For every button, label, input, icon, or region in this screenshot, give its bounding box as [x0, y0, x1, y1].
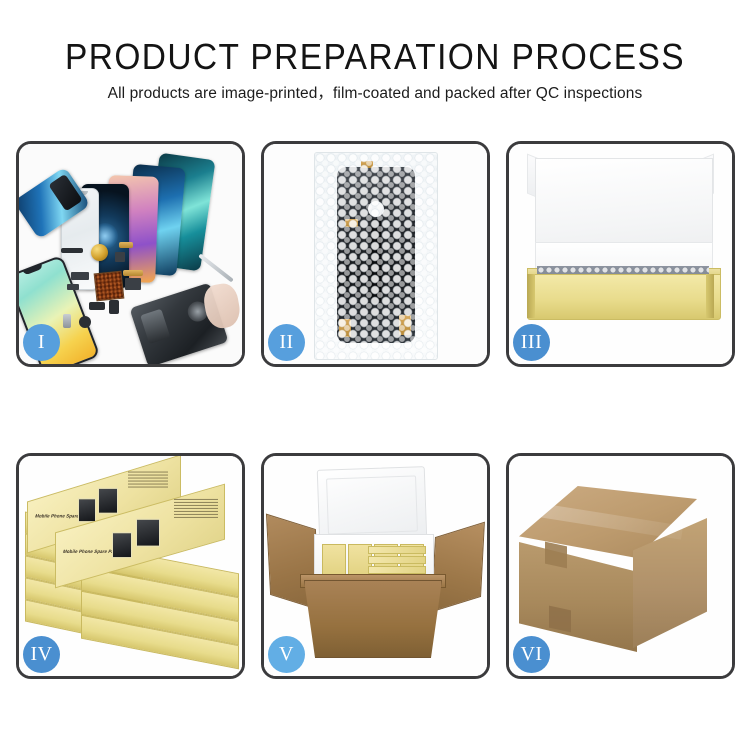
- gold-component-icon: [91, 244, 108, 261]
- part-gold-flex-icon: [119, 242, 133, 248]
- part-sim-tray-icon: [63, 314, 71, 328]
- step-badge-6: VI: [513, 636, 550, 673]
- step-panel-2: II: [261, 141, 490, 367]
- part-connector-icon: [115, 252, 125, 262]
- part-camera-icon: [89, 302, 105, 310]
- page-title: PRODUCT PREPARATION PROCESS: [26, 38, 724, 76]
- box-print-lines: [174, 499, 218, 520]
- process-steps-grid: I II: [16, 141, 734, 678]
- step-badge-1: I: [23, 324, 60, 361]
- infographic-page: PRODUCT PREPARATION PROCESS All products…: [0, 0, 750, 750]
- part-button-icon: [79, 316, 91, 328]
- box-print-lines: [128, 472, 168, 490]
- box-corner-left: [527, 274, 535, 318]
- bubble-texture-overlay: [315, 153, 437, 359]
- box-corner-right: [706, 274, 714, 318]
- foam-lid-open-icon: [317, 466, 428, 544]
- part-strip-icon: [61, 248, 83, 253]
- page-subtitle: All products are image-printed，film-coat…: [0, 85, 750, 103]
- chip-grid-icon: [94, 271, 125, 302]
- step-badge-4: IV: [23, 636, 60, 673]
- step-badge-3: III: [513, 324, 550, 361]
- step-panel-1: I: [16, 141, 245, 367]
- box-print-thumb: [98, 488, 118, 514]
- yellow-box-base-icon: [527, 274, 721, 320]
- step-panel-6: VI: [506, 453, 735, 679]
- box-print-thumb: [136, 519, 160, 547]
- part-speaker-icon: [109, 300, 119, 314]
- carton-label-lower: [549, 606, 571, 633]
- part-gold-contact-icon: [123, 270, 143, 276]
- bubble-bag-icon: [314, 152, 438, 360]
- box-print-thumb: [112, 532, 132, 558]
- step-badge-5: V: [268, 636, 305, 673]
- box-print-thumb: [78, 498, 96, 522]
- part-board-icon: [125, 278, 141, 290]
- box-stack-icon: Mobile Phone Spare Parts Mobile: [25, 472, 237, 668]
- step-panel-5: V: [261, 453, 490, 679]
- step-panel-4: Mobile Phone Spare Parts Mobile: [16, 453, 245, 679]
- header: PRODUCT PREPARATION PROCESS All products…: [0, 0, 750, 103]
- part-small-flex-icon: [67, 284, 79, 290]
- step-badge-2: II: [268, 324, 305, 361]
- step-panel-3: III: [506, 141, 735, 367]
- carton-label-upper: [545, 542, 567, 569]
- part-flex-cable-icon: [71, 272, 89, 280]
- carton-body-icon: [304, 580, 442, 658]
